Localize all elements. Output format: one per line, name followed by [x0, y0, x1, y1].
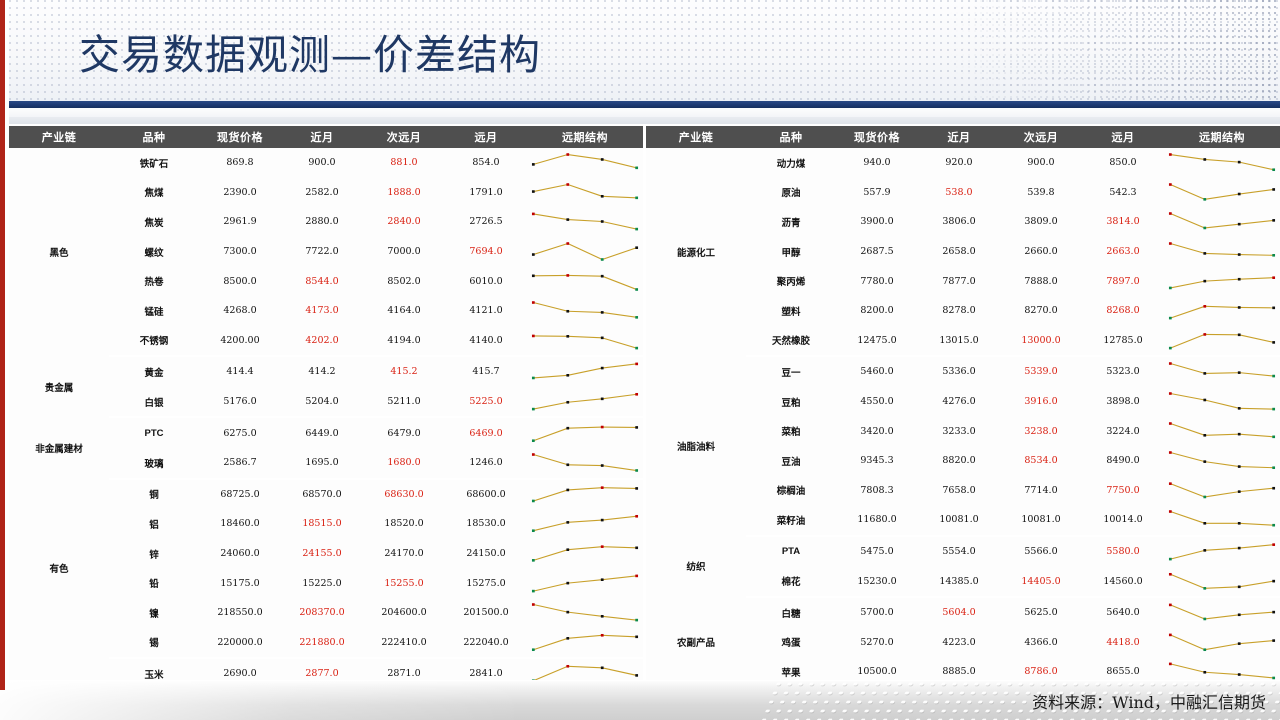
- mid-price-cell: 415.2: [363, 356, 445, 387]
- forward-curve-sparkline: [1164, 148, 1280, 177]
- far-price-cell: 222040.0: [445, 628, 527, 659]
- spot-price-cell: 2390.0: [199, 178, 281, 208]
- col-mid: 次远月: [1000, 126, 1082, 148]
- page-title: 交易数据观测—价差结构: [79, 31, 541, 79]
- near-price-cell: 10081.0: [918, 505, 1000, 536]
- mid-price-cell: 3916.0: [1000, 387, 1082, 417]
- far-price-cell: 3814.0: [1082, 207, 1164, 237]
- curve-cell: [1164, 148, 1280, 178]
- forward-curve-sparkline: [1164, 598, 1280, 627]
- table-row[interactable]: 能源化工动力煤940.0920.0900.0850.0: [646, 148, 1280, 178]
- variety-cell: 不锈钢: [109, 326, 199, 357]
- mid-price-cell: 7714.0: [1000, 476, 1082, 506]
- spot-price-cell: 3900.0: [836, 207, 918, 237]
- header-sub-rule: [9, 117, 1280, 124]
- chain-cell: 农副产品: [646, 597, 746, 688]
- near-price-cell: 2658.0: [918, 237, 1000, 267]
- forward-curve-sparkline: [527, 569, 643, 598]
- spot-price-cell: 2961.9: [199, 207, 281, 237]
- far-price-cell: 12785.0: [1082, 326, 1164, 357]
- chain-cell: 纺织: [646, 536, 746, 597]
- forward-curve-sparkline: [1164, 628, 1280, 657]
- forward-curve-sparkline: [527, 419, 643, 448]
- curve-cell: [527, 417, 643, 448]
- curve-cell: [527, 207, 643, 237]
- right-table-head: 产业链 品种 现货价格 近月 次远月 远月 远期结构: [646, 126, 1280, 148]
- forward-curve-sparkline: [527, 357, 643, 386]
- curve-cell: [1164, 178, 1280, 208]
- variety-cell: 玻璃: [109, 448, 199, 479]
- col-variety: 品种: [109, 126, 199, 148]
- mid-price-cell: 8534.0: [1000, 446, 1082, 476]
- mid-price-cell: 3238.0: [1000, 416, 1082, 446]
- far-price-cell: 7750.0: [1082, 476, 1164, 506]
- chain-cell: 非金属建材: [9, 417, 109, 478]
- far-price-cell: 3224.0: [1082, 416, 1164, 446]
- curve-cell: [527, 326, 643, 357]
- col-variety: 品种: [746, 126, 836, 148]
- far-price-cell: 7694.0: [445, 237, 527, 267]
- far-price-cell: 2663.0: [1082, 237, 1164, 267]
- variety-cell: 菜粕: [746, 416, 836, 446]
- variety-cell: PTC: [109, 417, 199, 448]
- variety-cell: 锌: [109, 539, 199, 569]
- far-price-cell: 542.3: [1082, 178, 1164, 208]
- mid-price-cell: 5625.0: [1000, 597, 1082, 628]
- forward-curve-sparkline: [527, 267, 643, 296]
- variety-cell: 锡: [109, 628, 199, 659]
- forward-curve-sparkline: [527, 148, 643, 177]
- spot-price-cell: 11680.0: [836, 505, 918, 536]
- variety-cell: 铜: [109, 479, 199, 510]
- mid-price-cell: 222410.0: [363, 628, 445, 659]
- near-price-cell: 68570.0: [281, 479, 363, 510]
- variety-cell: 菜籽油: [746, 505, 836, 536]
- price-structure-table-right: 产业链 品种 现货价格 近月 次远月 远月 远期结构 能源化工动力煤940.09…: [646, 126, 1280, 689]
- mid-price-cell: 539.8: [1000, 178, 1082, 208]
- mid-price-cell: 10081.0: [1000, 505, 1082, 536]
- left-header-row: 产业链 品种 现货价格 近月 次远月 远月 远期结构: [9, 126, 643, 148]
- curve-cell: [527, 448, 643, 479]
- forward-curve-sparkline: [1164, 567, 1280, 596]
- left-table-wrap: 产业链 品种 现货价格 近月 次远月 远月 远期结构 黑色铁矿石869.8900…: [9, 126, 643, 682]
- mid-price-cell: 6479.0: [363, 417, 445, 448]
- spot-price-cell: 12475.0: [836, 326, 918, 357]
- near-price-cell: 5554.0: [918, 536, 1000, 567]
- forward-curve-sparkline: [1164, 537, 1280, 566]
- spot-price-cell: 15230.0: [836, 566, 918, 597]
- curve-cell: [527, 479, 643, 510]
- far-price-cell: 2726.5: [445, 207, 527, 237]
- mid-price-cell: 13000.0: [1000, 326, 1082, 357]
- left-accent-gap: [5, 0, 9, 690]
- forward-curve-sparkline: [1164, 417, 1280, 446]
- spot-price-cell: 5460.0: [836, 356, 918, 387]
- curve-cell: [1164, 266, 1280, 296]
- variety-cell: 热卷: [109, 266, 199, 296]
- near-price-cell: 4276.0: [918, 387, 1000, 417]
- forward-curve-sparkline: [1164, 357, 1280, 386]
- chain-cell: 贵金属: [9, 356, 109, 417]
- mid-price-cell: 15255.0: [363, 568, 445, 598]
- curve-cell: [1164, 566, 1280, 597]
- tables-container: 产业链 品种 现货价格 近月 次远月 远月 远期结构 黑色铁矿石869.8900…: [9, 126, 1280, 682]
- near-price-cell: 8544.0: [281, 266, 363, 296]
- curve-cell: [1164, 536, 1280, 567]
- near-price-cell: 2880.0: [281, 207, 363, 237]
- curve-cell: [1164, 387, 1280, 417]
- curve-cell: [527, 296, 643, 326]
- near-price-cell: 2582.0: [281, 178, 363, 208]
- far-price-cell: 8490.0: [1082, 446, 1164, 476]
- spot-price-cell: 6275.0: [199, 417, 281, 448]
- forward-curve-sparkline: [527, 448, 643, 477]
- spot-price-cell: 4268.0: [199, 296, 281, 326]
- spot-price-cell: 18460.0: [199, 509, 281, 539]
- variety-cell: 沥青: [746, 207, 836, 237]
- mid-price-cell: 5211.0: [363, 387, 445, 418]
- mid-price-cell: 4194.0: [363, 326, 445, 357]
- spot-price-cell: 869.8: [199, 148, 281, 178]
- forward-curve-sparkline: [527, 628, 643, 657]
- curve-cell: [527, 178, 643, 208]
- chain-cell: 油脂油料: [646, 356, 746, 536]
- spot-price-cell: 7780.0: [836, 266, 918, 296]
- col-far: 远月: [445, 126, 527, 148]
- curve-cell: [1164, 476, 1280, 506]
- col-near: 近月: [918, 126, 1000, 148]
- forward-curve-sparkline: [1164, 476, 1280, 505]
- chain-cell: 能源化工: [646, 148, 746, 356]
- table-row[interactable]: 纺织PTA5475.05554.05566.05580.0: [646, 536, 1280, 567]
- near-price-cell: 7877.0: [918, 266, 1000, 296]
- mid-price-cell: 14405.0: [1000, 566, 1082, 597]
- far-price-cell: 4418.0: [1082, 628, 1164, 658]
- far-price-cell: 6010.0: [445, 266, 527, 296]
- col-chain: 产业链: [646, 126, 746, 148]
- spot-price-cell: 5475.0: [836, 536, 918, 567]
- variety-cell: 塑料: [746, 296, 836, 326]
- spot-price-cell: 557.9: [836, 178, 918, 208]
- far-price-cell: 201500.0: [445, 598, 527, 628]
- spot-price-cell: 4550.0: [836, 387, 918, 417]
- near-price-cell: 4202.0: [281, 326, 363, 357]
- forward-curve-sparkline: [527, 207, 643, 236]
- curve-cell: [527, 628, 643, 659]
- spot-price-cell: 24060.0: [199, 539, 281, 569]
- variety-cell: 甲醇: [746, 237, 836, 267]
- far-price-cell: 6469.0: [445, 417, 527, 448]
- spot-price-cell: 218550.0: [199, 598, 281, 628]
- near-price-cell: 8278.0: [918, 296, 1000, 326]
- variety-cell: 动力煤: [746, 148, 836, 178]
- far-price-cell: 1791.0: [445, 178, 527, 208]
- near-price-cell: 18515.0: [281, 509, 363, 539]
- curve-cell: [527, 598, 643, 628]
- curve-cell: [1164, 237, 1280, 267]
- forward-curve-sparkline: [527, 539, 643, 568]
- far-price-cell: 4121.0: [445, 296, 527, 326]
- mid-price-cell: 7888.0: [1000, 266, 1082, 296]
- spot-price-cell: 8200.0: [836, 296, 918, 326]
- curve-cell: [527, 266, 643, 296]
- variety-cell: 白糖: [746, 597, 836, 628]
- curve-cell: [1164, 446, 1280, 476]
- spot-price-cell: 220000.0: [199, 628, 281, 659]
- mid-price-cell: 2660.0: [1000, 237, 1082, 267]
- table-row[interactable]: 油脂油料豆一5460.05336.05339.05323.0: [646, 356, 1280, 387]
- header-navy-rule: [9, 101, 1280, 108]
- band-sheen: [0, 680, 700, 720]
- forward-curve-sparkline: [1164, 505, 1280, 534]
- header-light-rule: [9, 108, 1280, 117]
- variety-cell: 豆粕: [746, 387, 836, 417]
- near-price-cell: 221880.0: [281, 628, 363, 659]
- table-row[interactable]: 贵金属黄金414.4414.2415.2415.7: [9, 356, 643, 387]
- left-table-body: 黑色铁矿石869.8900.0881.0854.0焦煤2390.02582.01…: [9, 148, 643, 719]
- variety-cell: 豆油: [746, 446, 836, 476]
- far-price-cell: 1246.0: [445, 448, 527, 479]
- mid-price-cell: 1680.0: [363, 448, 445, 479]
- far-price-cell: 24150.0: [445, 539, 527, 569]
- col-mid: 次远月: [363, 126, 445, 148]
- spot-price-cell: 940.0: [836, 148, 918, 178]
- near-price-cell: 14385.0: [918, 566, 1000, 597]
- near-price-cell: 13015.0: [918, 326, 1000, 357]
- mid-price-cell: 4366.0: [1000, 628, 1082, 658]
- curve-cell: [527, 237, 643, 267]
- forward-curve-sparkline: [1164, 446, 1280, 475]
- variety-cell: 原油: [746, 178, 836, 208]
- chain-cell: 有色: [9, 479, 109, 659]
- spot-price-cell: 2586.7: [199, 448, 281, 479]
- near-price-cell: 24155.0: [281, 539, 363, 569]
- near-price-cell: 900.0: [281, 148, 363, 178]
- table-row[interactable]: 农副产品白糖5700.05604.05625.05640.0: [646, 597, 1280, 628]
- forward-curve-sparkline: [527, 178, 643, 207]
- forward-curve-sparkline: [527, 387, 643, 416]
- spot-price-cell: 414.4: [199, 356, 281, 387]
- spot-price-cell: 8500.0: [199, 266, 281, 296]
- far-price-cell: 415.7: [445, 356, 527, 387]
- far-price-cell: 850.0: [1082, 148, 1164, 178]
- mid-price-cell: 1888.0: [363, 178, 445, 208]
- slide-header: 交易数据观测—价差结构: [9, 0, 1280, 101]
- near-price-cell: 5604.0: [918, 597, 1000, 628]
- mid-price-cell: 8270.0: [1000, 296, 1082, 326]
- curve-cell: [1164, 356, 1280, 387]
- forward-curve-sparkline: [527, 326, 643, 355]
- curve-cell: [527, 387, 643, 418]
- right-table-wrap: 产业链 品种 现货价格 近月 次远月 远月 远期结构 能源化工动力煤940.09…: [646, 126, 1280, 682]
- near-price-cell: 6449.0: [281, 417, 363, 448]
- near-price-cell: 4173.0: [281, 296, 363, 326]
- far-price-cell: 8268.0: [1082, 296, 1164, 326]
- far-price-cell: 10014.0: [1082, 505, 1164, 536]
- curve-cell: [1164, 416, 1280, 446]
- curve-cell: [527, 148, 643, 178]
- variety-cell: 铝: [109, 509, 199, 539]
- variety-cell: 白银: [109, 387, 199, 418]
- spot-price-cell: 3420.0: [836, 416, 918, 446]
- variety-cell: 镍: [109, 598, 199, 628]
- near-price-cell: 3806.0: [918, 207, 1000, 237]
- variety-cell: PTA: [746, 536, 836, 567]
- col-curve: 远期结构: [1164, 126, 1280, 148]
- curve-cell: [1164, 207, 1280, 237]
- forward-curve-sparkline: [527, 509, 643, 538]
- spot-price-cell: 5176.0: [199, 387, 281, 418]
- far-price-cell: 5580.0: [1082, 536, 1164, 567]
- spot-price-cell: 2687.5: [836, 237, 918, 267]
- variety-cell: 锰硅: [109, 296, 199, 326]
- curve-cell: [527, 539, 643, 569]
- mid-price-cell: 3809.0: [1000, 207, 1082, 237]
- spot-price-cell: 68725.0: [199, 479, 281, 510]
- far-price-cell: 5323.0: [1082, 356, 1164, 387]
- forward-curve-sparkline: [1164, 326, 1280, 355]
- curve-cell: [1164, 296, 1280, 326]
- mid-price-cell: 4164.0: [363, 296, 445, 326]
- variety-cell: 聚丙烯: [746, 266, 836, 296]
- near-price-cell: 920.0: [918, 148, 1000, 178]
- variety-cell: 鸡蛋: [746, 628, 836, 658]
- forward-curve-sparkline: [527, 598, 643, 627]
- col-curve: 远期结构: [527, 126, 643, 148]
- mid-price-cell: 5566.0: [1000, 536, 1082, 567]
- curve-cell: [1164, 326, 1280, 357]
- table-row[interactable]: 有色铜68725.068570.068630.068600.0: [9, 479, 643, 510]
- forward-curve-sparkline: [1164, 207, 1280, 236]
- spot-price-cell: 5270.0: [836, 628, 918, 658]
- spot-price-cell: 4200.00: [199, 326, 281, 357]
- curve-cell: [1164, 628, 1280, 658]
- col-chain: 产业链: [9, 126, 109, 148]
- variety-cell: 螺纹: [109, 237, 199, 267]
- price-structure-table-left: 产业链 品种 现货价格 近月 次远月 远月 远期结构 黑色铁矿石869.8900…: [9, 126, 643, 720]
- forward-curve-sparkline: [1164, 387, 1280, 416]
- variety-cell: 天然橡胶: [746, 326, 836, 357]
- curve-cell: [527, 356, 643, 387]
- mid-price-cell: 2840.0: [363, 207, 445, 237]
- near-price-cell: 538.0: [918, 178, 1000, 208]
- variety-cell: 黄金: [109, 356, 199, 387]
- curve-cell: [527, 509, 643, 539]
- source-note: 资料来源：Wind，中融汇信期货: [1032, 689, 1266, 713]
- far-price-cell: 854.0: [445, 148, 527, 178]
- mid-price-cell: 204600.0: [363, 598, 445, 628]
- curve-cell: [1164, 505, 1280, 536]
- near-price-cell: 1695.0: [281, 448, 363, 479]
- col-far: 远月: [1082, 126, 1164, 148]
- variety-cell: 铅: [109, 568, 199, 598]
- near-price-cell: 414.2: [281, 356, 363, 387]
- near-price-cell: 5336.0: [918, 356, 1000, 387]
- mid-price-cell: 68630.0: [363, 479, 445, 510]
- curve-cell: [1164, 597, 1280, 628]
- table-row[interactable]: 非金属建材PTC6275.06449.06479.06469.0: [9, 417, 643, 448]
- forward-curve-sparkline: [1164, 178, 1280, 207]
- table-row[interactable]: 黑色铁矿石869.8900.0881.0854.0: [9, 148, 643, 178]
- spot-price-cell: 7300.0: [199, 237, 281, 267]
- mid-price-cell: 900.0: [1000, 148, 1082, 178]
- right-table-body: 能源化工动力煤940.0920.0900.0850.0原油557.9538.05…: [646, 148, 1280, 688]
- mid-price-cell: 8502.0: [363, 266, 445, 296]
- far-price-cell: 4140.0: [445, 326, 527, 357]
- spot-price-cell: 9345.3: [836, 446, 918, 476]
- slide-canvas: 交易数据观测—价差结构 产业链 品种 现货价格 近月 次远月 远月: [0, 0, 1280, 720]
- mid-price-cell: 24170.0: [363, 539, 445, 569]
- variety-cell: 焦煤: [109, 178, 199, 208]
- near-price-cell: 7722.0: [281, 237, 363, 267]
- mid-price-cell: 881.0: [363, 148, 445, 178]
- near-price-cell: 3233.0: [918, 416, 1000, 446]
- forward-curve-sparkline: [527, 237, 643, 266]
- near-price-cell: 5204.0: [281, 387, 363, 418]
- near-price-cell: 8820.0: [918, 446, 1000, 476]
- curve-cell: [527, 568, 643, 598]
- spot-price-cell: 15175.0: [199, 568, 281, 598]
- near-price-cell: 4223.0: [918, 628, 1000, 658]
- far-price-cell: 7897.0: [1082, 266, 1164, 296]
- variety-cell: 棉花: [746, 566, 836, 597]
- near-price-cell: 15225.0: [281, 568, 363, 598]
- col-near: 近月: [281, 126, 363, 148]
- far-price-cell: 14560.0: [1082, 566, 1164, 597]
- mid-price-cell: 7000.0: [363, 237, 445, 267]
- right-header-row: 产业链 品种 现货价格 近月 次远月 远月 远期结构: [646, 126, 1280, 148]
- far-price-cell: 15275.0: [445, 568, 527, 598]
- spot-price-cell: 5700.0: [836, 597, 918, 628]
- col-spot: 现货价格: [199, 126, 281, 148]
- col-spot: 现货价格: [836, 126, 918, 148]
- forward-curve-sparkline: [527, 480, 643, 509]
- forward-curve-sparkline: [1164, 267, 1280, 296]
- variety-cell: 棕榈油: [746, 476, 836, 506]
- forward-curve-sparkline: [527, 296, 643, 325]
- mid-price-cell: 5339.0: [1000, 356, 1082, 387]
- variety-cell: 铁矿石: [109, 148, 199, 178]
- chain-cell: 黑色: [9, 148, 109, 356]
- variety-cell: 焦炭: [109, 207, 199, 237]
- near-price-cell: 208370.0: [281, 598, 363, 628]
- forward-curve-sparkline: [1164, 296, 1280, 325]
- mid-price-cell: 18520.0: [363, 509, 445, 539]
- forward-curve-sparkline: [1164, 237, 1280, 266]
- near-price-cell: 7658.0: [918, 476, 1000, 506]
- variety-cell: 豆一: [746, 356, 836, 387]
- left-table-head: 产业链 品种 现货价格 近月 次远月 远月 远期结构: [9, 126, 643, 148]
- far-price-cell: 5225.0: [445, 387, 527, 418]
- spot-price-cell: 7808.3: [836, 476, 918, 506]
- far-price-cell: 5640.0: [1082, 597, 1164, 628]
- far-price-cell: 68600.0: [445, 479, 527, 510]
- far-price-cell: 18530.0: [445, 509, 527, 539]
- far-price-cell: 3898.0: [1082, 387, 1164, 417]
